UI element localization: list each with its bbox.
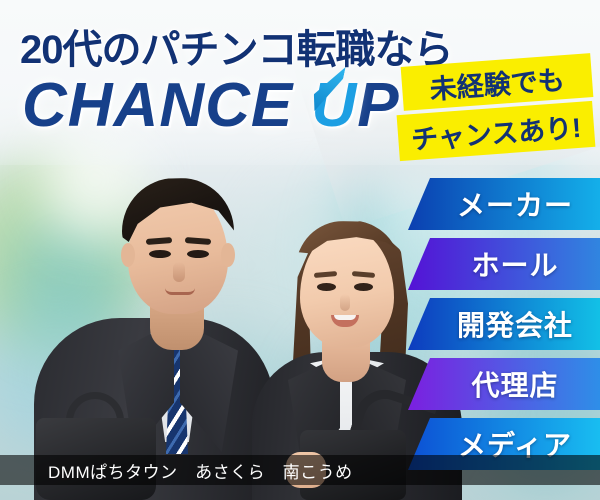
logo-p-letter: P	[357, 71, 399, 140]
category-item-hall[interactable]: ホール	[408, 238, 600, 290]
logo-accent-u: U	[311, 71, 357, 140]
category-item-agency[interactable]: 代理店	[408, 358, 600, 410]
category-item-developer[interactable]: 開発会社	[408, 298, 600, 350]
category-item-maker[interactable]: メーカー	[408, 178, 600, 230]
logo-main-text: CHANCE	[22, 71, 311, 140]
page-title: 20代のパチンコ転職なら	[20, 17, 453, 75]
woman-teeth	[334, 315, 356, 320]
badge-line-2: チャンスあり!	[397, 101, 596, 161]
woman-nose	[340, 294, 350, 311]
man-nose	[173, 262, 185, 282]
man-eye-left	[149, 250, 171, 258]
woman-eye-right	[354, 283, 373, 291]
category-label: 代理店	[471, 364, 558, 404]
man-ear-left	[121, 243, 135, 267]
caption-text: DMMぱちタウン あさくら 南こうめ	[48, 458, 353, 483]
woman-eye-left	[317, 283, 336, 291]
category-label: 開発会社	[457, 304, 573, 344]
man-ear-right	[221, 243, 235, 267]
man-eye-right	[187, 250, 209, 258]
recruitment-banner: 20代のパチンコ転職なら CHANCE UP 未経験でも チャンスあり! メーカ…	[0, 0, 600, 500]
status-badge: 未経験でも チャンスあり!	[398, 58, 594, 158]
caption-bar: DMMぱちタウン あさくら 南こうめ	[0, 455, 600, 485]
man-mouth	[165, 288, 195, 295]
category-list: メーカー ホール 開発会社 代理店 メディア	[408, 178, 600, 478]
category-label: メーカー	[457, 184, 573, 224]
category-label: ホール	[471, 244, 558, 284]
chance-up-logo: CHANCE UP	[22, 70, 400, 141]
